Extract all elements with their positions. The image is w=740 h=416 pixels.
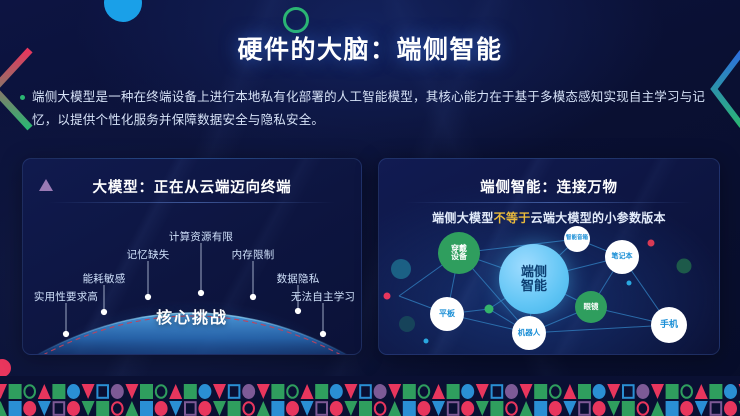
challenge-dot	[145, 294, 151, 300]
device-network-graph: 端侧智能穿戴设备智能音箱笔记本平板机器人眼镜手机	[379, 221, 719, 354]
bubble-teal-lg	[391, 259, 411, 279]
panel-cloud-to-edge: 大模型：正在从云端迈向终端	[22, 158, 362, 355]
challenge-dot	[63, 331, 69, 337]
challenge-label: 计算资源有限	[169, 229, 233, 244]
core-challenges-chart: 实用性要求高能耗敏感记忆缺失计算资源有限内存限制数据隐私无法自主学习 核心挑战	[23, 159, 361, 354]
challenge-label: 能耗敏感	[83, 271, 126, 286]
bubble-pink-sm	[384, 293, 391, 300]
node-tablet[interactable]: 平板	[430, 297, 464, 331]
panel-edge-connects-all: 端侧智能：连接万物 端侧大模型不等于云端大模型的小参数版本 端侧智能穿戴设备智能…	[378, 158, 720, 355]
challenge-label: 记忆缺失	[127, 247, 170, 262]
slide-root: 硬件的大脑：端侧智能 端侧大模型是一种在终端设备上进行本地私有化部署的人工智能模…	[0, 0, 740, 416]
network-edge	[529, 325, 669, 333]
panel-right-title: 端侧智能：连接万物	[379, 176, 719, 197]
bullet-dot-icon	[20, 95, 25, 100]
node-edge-intelligence[interactable]: 端侧智能	[499, 244, 569, 314]
challenge-label: 数据隐私	[277, 271, 320, 286]
pink-dot-decor	[0, 359, 11, 377]
node-glasses[interactable]: 眼镜	[575, 291, 607, 323]
challenge-dot	[250, 294, 256, 300]
lead-text: 端侧大模型是一种在终端设备上进行本地私有化部署的人工智能模型，其核心能力在于基于…	[32, 86, 722, 132]
challenge-dot	[198, 290, 204, 296]
center-node-line1: 端侧	[521, 265, 547, 279]
panel-right-divider	[405, 202, 693, 203]
challenge-dot	[320, 331, 326, 337]
blue-circle-decor	[104, 0, 142, 22]
challenge-label: 内存限制	[232, 247, 275, 262]
bottom-decorative-band	[0, 376, 740, 416]
node-phone[interactable]: 手机	[651, 307, 687, 343]
bubble-green-sm	[485, 305, 494, 314]
bubble-teal-dk	[399, 316, 415, 332]
lead-paragraph: 端侧大模型是一种在终端设备上进行本地私有化部署的人工智能模型，其核心能力在于基于…	[20, 86, 722, 132]
node-laptop[interactable]: 笔记本	[605, 240, 639, 274]
challenge-label: 无法自主学习	[291, 289, 355, 304]
bubble-blue-xs	[424, 339, 429, 344]
center-node-line2: 智能	[521, 279, 547, 293]
node-speaker[interactable]: 智能音箱	[564, 226, 590, 252]
core-challenge-label: 核心挑战	[23, 304, 361, 328]
bubble-blue-xs2	[627, 281, 632, 286]
challenge-label: 实用性要求高	[34, 289, 98, 304]
node-robot[interactable]: 机器人	[512, 316, 546, 350]
bubble-green-dk	[677, 259, 692, 274]
bubble-red-sm	[648, 240, 655, 247]
page-title: 硬件的大脑：端侧智能	[0, 30, 740, 66]
node-wearable-device[interactable]: 穿戴设备	[438, 232, 480, 274]
node-label-part: 设备	[451, 253, 467, 261]
